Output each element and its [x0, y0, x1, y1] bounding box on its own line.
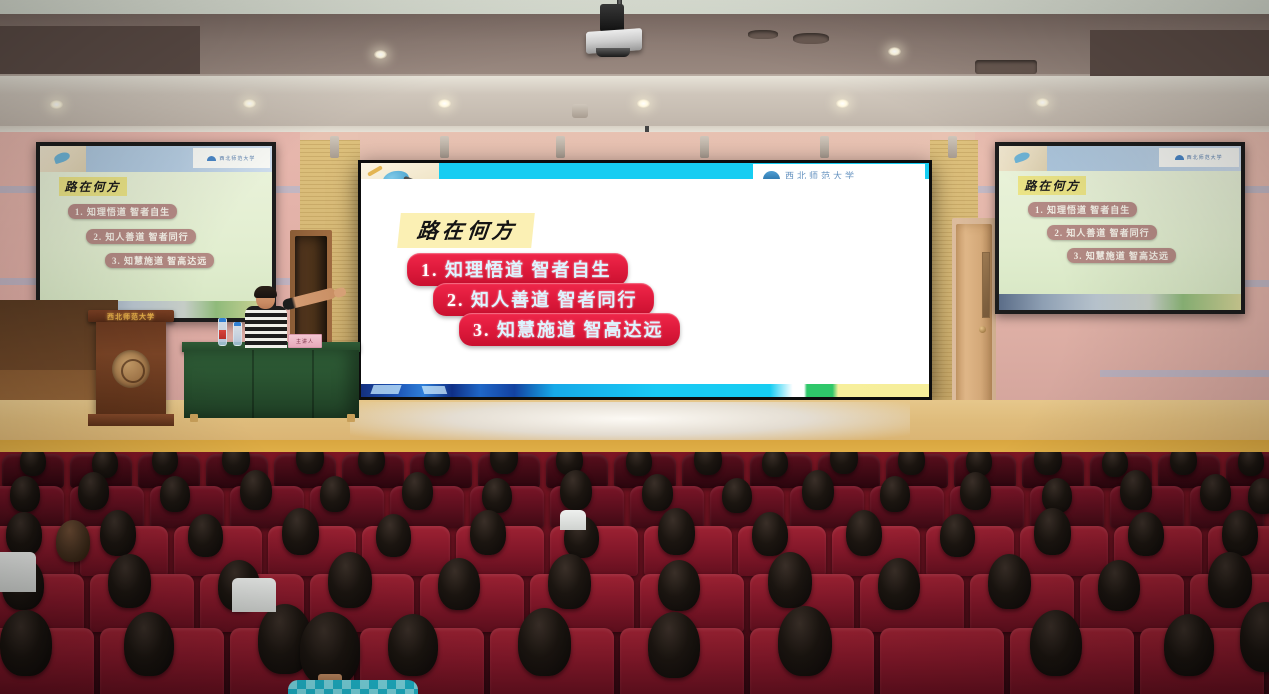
left-screen-bird-icon: [40, 146, 86, 172]
audience-head: [762, 452, 788, 477]
projector-lens-icon: [596, 48, 630, 57]
audience-head: [802, 470, 834, 510]
audience-head: [1030, 610, 1082, 676]
water-bottle-1: [218, 318, 227, 346]
right-screen-line-1: 1. 知理悟道 智者自生: [1028, 202, 1137, 217]
main-screen-frame: 西北师范大学 路在何方 1. 知理悟道 智者自生 2. 知人善道 智者同行 3.…: [358, 160, 932, 400]
wall-accent-stripe-right-3: [1100, 370, 1269, 377]
audience-head: [940, 514, 975, 557]
slide-bullet-3: 3. 知慧施道 智高达远: [459, 313, 680, 346]
ceiling-recess-left: [0, 26, 200, 74]
slide-bottom-strip: [361, 384, 929, 397]
audience-head: [108, 554, 151, 608]
right-screen-logo-text: 西北师范大学: [1187, 154, 1223, 161]
speaker-table-skirt: [184, 350, 359, 418]
bottle-cap-icon-2: [234, 322, 241, 326]
ceiling-speaker-center: [572, 104, 588, 118]
audience-head: [424, 452, 450, 476]
audience-seating-area: HC: [0, 452, 1269, 694]
ceiling-vent-3: [975, 60, 1037, 74]
audience-head: [56, 520, 90, 562]
ceiling-recess-right: [1090, 30, 1269, 76]
left-screen-logo: 西北师范大学: [193, 148, 270, 169]
audience-head: [1208, 552, 1252, 608]
slide-bullet-3-text: 知慧施道 智高达远: [497, 320, 664, 340]
audience-head: [240, 470, 272, 510]
slide-title: 路在何方: [397, 213, 535, 248]
audience-head: [878, 558, 920, 610]
ceiling-downlight-6: [637, 99, 650, 108]
audience-head: [658, 560, 700, 611]
table-fold-1: [252, 350, 254, 418]
auditorium-photo: 西北师范大学 路在何方 1. 知理悟道 智者自生 2. 知人善道 智者同行 3.…: [0, 0, 1269, 694]
audience-head: [1102, 452, 1128, 477]
audience-head: [1034, 508, 1071, 555]
audience-head: [694, 452, 722, 475]
right-screen-logo: 西北师范大学: [1159, 148, 1239, 168]
audience-head: [482, 478, 512, 513]
audience-head: [320, 476, 350, 512]
audience-head: [648, 612, 700, 678]
audience-head: [1120, 470, 1152, 510]
audience-head: [768, 552, 812, 608]
ceiling-downlight-4: [243, 99, 256, 108]
right-screen-line-2: 2. 知人善道 智者同行: [1047, 225, 1156, 240]
slide-bullet-1: 1. 知理悟道 智者自生: [407, 253, 628, 286]
ceiling-hanger-4: [700, 136, 709, 158]
bird-leaf-icon: [367, 165, 383, 176]
speaker-name-placard: 主讲人: [288, 334, 322, 348]
audience-head: [658, 508, 695, 555]
table-leg-right: [347, 414, 355, 422]
speaker-torso: [245, 306, 287, 348]
audience-head: [1238, 452, 1264, 476]
ceiling-vent-1: [748, 30, 778, 39]
audience-head: [388, 614, 438, 676]
projector-mount-head: [600, 4, 624, 32]
table-fold-2: [312, 350, 314, 418]
main-projection-screen: 西北师范大学 路在何方 1. 知理悟道 智者自生 2. 知人善道 智者同行 3.…: [361, 163, 929, 397]
audience-shirt-white-left: [0, 552, 36, 592]
right-projection-screen: 西北师范大学 路在何方 1. 知理悟道 智者自生 2. 知人善道 智者同行 3.…: [999, 146, 1241, 310]
audience-head: [560, 470, 592, 510]
audience-head: [160, 476, 190, 512]
audience-head: [20, 452, 46, 476]
ceiling-downlight-7: [836, 99, 849, 108]
audience-head: [1170, 452, 1197, 475]
audience-head: [752, 512, 788, 556]
audience-head: [880, 476, 910, 512]
ceiling-hanger-5: [820, 136, 829, 158]
audience-head: [78, 472, 109, 510]
ceiling-downlight-8: [1036, 98, 1049, 107]
speaker-hair: [254, 286, 277, 298]
ceiling-hanger-2: [440, 136, 449, 158]
slide-bullet-1-number: 1.: [421, 260, 439, 280]
audience-head: [626, 452, 652, 476]
left-screen-logo-text: 西北师范大学: [219, 155, 255, 162]
audience-head: [328, 552, 372, 608]
right-screen-title: 路在何方: [1018, 176, 1086, 195]
audience-head: [518, 608, 571, 676]
left-screen-line-3: 3. 知慧施道 智高达远: [105, 253, 214, 268]
slide-bullet-2-number: 2.: [447, 290, 465, 310]
audience-head: [1164, 614, 1214, 676]
right-screen-line-3: 3. 知慧施道 智高达远: [1067, 248, 1176, 263]
right-screen-bird-icon: [999, 146, 1047, 171]
audience-shirt-white-mid: [232, 578, 276, 612]
audience-head: [898, 452, 925, 475]
audience-head: [152, 452, 178, 475]
ceiling-downlight-3: [50, 100, 63, 109]
audience-head: [960, 472, 991, 510]
ceiling-hanger-3: [556, 136, 565, 158]
audience-head: [1098, 560, 1140, 611]
slide-content-area: 路在何方 1. 知理悟道 智者自生 2. 知人善道 智者同行 3. 知慧施道 智…: [361, 179, 929, 361]
stage-projector-glare: [350, 402, 910, 444]
audience-head: [470, 510, 506, 555]
audience-head: [124, 612, 174, 676]
audience-head: [1128, 512, 1164, 556]
left-screen-title: 路在何方: [59, 177, 127, 196]
audience-head: [358, 452, 385, 475]
door-right-knob-icon[interactable]: [979, 326, 986, 333]
audience-shirt-white-mid2: [560, 510, 586, 530]
audience-head: [282, 508, 319, 555]
audience-head: [1248, 478, 1269, 514]
bottle-cap-icon: [219, 318, 226, 322]
audience-head: [376, 514, 411, 557]
audience-head: [548, 554, 591, 609]
ceiling-downlight-5: [438, 99, 451, 108]
left-screen-line-2: 2. 知人善道 智者同行: [86, 229, 195, 244]
audience-head: [642, 474, 673, 511]
ceiling-lower-band: [0, 76, 1269, 136]
water-bottle-2: [233, 322, 242, 346]
audience-head: [6, 512, 42, 556]
audience-head: [1034, 452, 1062, 475]
podium-nameplate-text: 西北师范大学: [92, 312, 170, 322]
bottle-label-icon: [219, 330, 226, 339]
audience-head: [1222, 510, 1258, 556]
ceiling-downlight-1: [374, 50, 387, 59]
table-leg-left: [190, 414, 198, 422]
audience-head: [10, 476, 40, 512]
audience-head: [778, 606, 832, 676]
right-screen-bottom-strip: [999, 294, 1241, 310]
seat: [880, 628, 1004, 694]
audience-head: [722, 478, 752, 513]
audience-head: [988, 554, 1031, 609]
audience-head: [438, 558, 480, 610]
audience-head: [222, 452, 250, 475]
ceiling-vent-2: [793, 33, 829, 44]
audience-head: [846, 510, 882, 556]
ceiling-downlight-2: [888, 47, 901, 56]
university-crest-icon: [112, 350, 150, 388]
ceiling-hanger-6: [948, 136, 957, 158]
left-screen-line-1: 1. 知理悟道 智者自生: [68, 204, 177, 219]
audience-head: [402, 472, 433, 510]
audience-head: [188, 514, 223, 557]
audience-head: [0, 610, 52, 676]
audience-head: [1200, 474, 1231, 511]
slide-bullet-1-text: 知理悟道 智者自生: [445, 260, 612, 280]
right-screen-logo-mark-icon: [1175, 155, 1184, 160]
podium-base: [88, 414, 174, 426]
door-right-window: [982, 252, 990, 318]
slide-bullet-3-number: 3.: [473, 320, 491, 340]
ceiling-hanger-1: [330, 136, 339, 158]
audience-head: [100, 510, 136, 556]
slide-bullet-2: 2. 知人善道 智者同行: [433, 283, 654, 316]
audience-shirt-checkered: [288, 680, 418, 694]
left-projection-screen: 西北师范大学 路在何方 1. 知理悟道 智者自生 2. 知人善道 智者同行 3.…: [40, 146, 272, 318]
left-screen-logo-mark-icon: [207, 156, 216, 161]
slide-bullet-2-text: 知人善道 智者同行: [471, 290, 638, 310]
